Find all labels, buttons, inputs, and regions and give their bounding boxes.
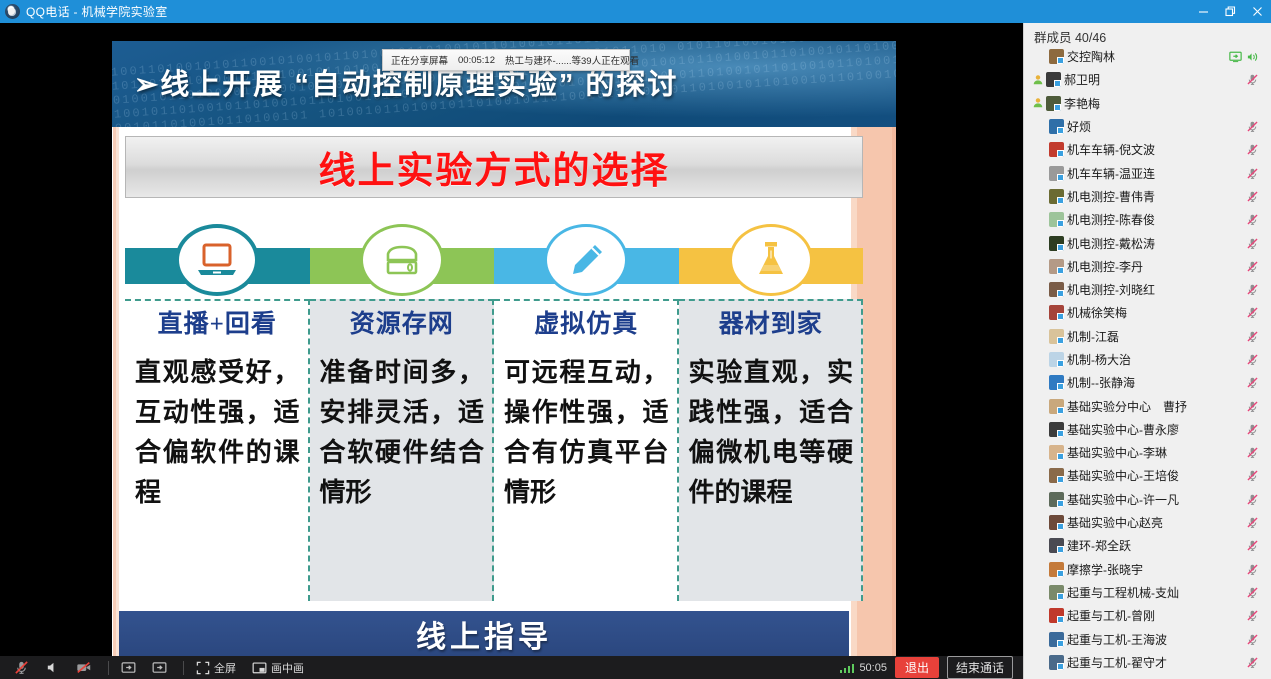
avatar <box>1049 538 1064 553</box>
avatar <box>1049 492 1064 507</box>
avatar <box>1049 352 1064 367</box>
member-status-icons <box>1246 376 1271 389</box>
slide-title-plate: 线上实验方式的选择 <box>125 136 863 198</box>
column-dashed-right <box>861 299 863 601</box>
member-list-item[interactable]: 机电测控-戴松涛 <box>1024 231 1271 254</box>
member-status-icons <box>1246 283 1271 296</box>
screen-share-status-bar[interactable]: 正在分享屏幕 00:05:12 热工与建环-......等39人正在观看 <box>382 49 630 71</box>
column-header: 资源存网 <box>310 299 495 345</box>
member-name: 起重与工机-曾刚 <box>1067 607 1246 624</box>
slide-comparison-grid: 直播+回看 直观感受好，互动性强，适合偏软件的课程 资源存网 准备时间多，安排灵… <box>125 299 863 601</box>
share-elapsed-time: 00:05:12 <box>458 55 495 66</box>
mic-muted-icon[interactable] <box>1246 237 1259 250</box>
member-status-icons <box>1246 586 1271 599</box>
mic-muted-icon[interactable] <box>1246 167 1259 180</box>
member-status-icons <box>1246 353 1271 366</box>
member-name: 机电测控-陈春俊 <box>1067 211 1246 228</box>
call-duration: 50:05 <box>859 662 887 674</box>
member-list-item[interactable]: 好烦 <box>1024 115 1271 138</box>
avatar <box>1049 259 1064 274</box>
member-status-icons <box>1246 516 1271 529</box>
fullscreen-icon <box>196 661 210 675</box>
call-toolbar: 全屏 画中画 50:05 退出 结束通话 <box>0 656 1023 679</box>
avatar <box>1049 49 1064 64</box>
column-dashed-top <box>679 299 864 301</box>
member-name: 机车车辆-倪文波 <box>1067 141 1246 158</box>
member-list-item[interactable]: 机电测控-曹伟青 <box>1024 185 1271 208</box>
pip-label: 画中画 <box>271 660 304 676</box>
mic-muted-icon[interactable] <box>1246 633 1259 646</box>
member-name: 机制-杨大治 <box>1067 351 1246 368</box>
member-list-item[interactable]: 基础实验中心-王培俊 <box>1024 464 1271 487</box>
mic-muted-icon[interactable] <box>1246 306 1259 319</box>
avatar <box>1049 562 1064 577</box>
member-name: 起重与工机-王海波 <box>1067 631 1246 648</box>
close-icon[interactable] <box>1244 0 1271 23</box>
column-dashed-top <box>125 299 310 301</box>
member-panel-header: 群成员 40/46 <box>1024 23 1271 45</box>
member-status-icons <box>1246 143 1271 156</box>
avatar <box>1049 375 1064 390</box>
column-body: 可远程互动，操作性强，适合有仿真平台情形 <box>494 345 679 513</box>
member-list-item[interactable]: 建环-郑全跃 <box>1024 534 1271 557</box>
window-title-bar: QQ电话 - 机械学院实验室 <box>0 0 1271 23</box>
member-list-item[interactable]: 基础实验分中心 曹抒 <box>1024 394 1271 417</box>
member-status-icons <box>1246 213 1271 226</box>
member-list-item[interactable]: 李艳梅 <box>1024 92 1271 115</box>
member-list-item[interactable]: 机电测控-李丹 <box>1024 255 1271 278</box>
member-status-icons <box>1246 423 1271 436</box>
flask-icon <box>729 224 813 296</box>
mic-muted-icon[interactable] <box>1246 493 1259 506</box>
qq-penguin-icon <box>5 4 20 19</box>
avatar <box>1049 166 1064 181</box>
pencil-icon <box>544 224 628 296</box>
column-body: 直观感受好，互动性强，适合偏软件的课程 <box>125 345 310 513</box>
member-list-item[interactable]: 机制--张静海 <box>1024 371 1271 394</box>
minimize-icon[interactable] <box>1190 0 1217 23</box>
member-status-icons <box>1246 260 1271 273</box>
mic-muted-icon[interactable] <box>1246 190 1259 203</box>
member-status-icons <box>1246 400 1271 413</box>
picture-in-picture-icon <box>252 661 267 675</box>
member-status-icons <box>1229 51 1271 63</box>
mic-muted-icon[interactable] <box>1246 563 1259 576</box>
share-screen-icon <box>121 661 136 675</box>
share-out-button[interactable] <box>152 661 167 675</box>
column-header: 虚拟仿真 <box>494 299 679 345</box>
member-name: 机制-江磊 <box>1067 328 1246 345</box>
column-body: 实验直观，实践性强，适合偏微机电等硬件的课程 <box>679 345 864 513</box>
toolbar-divider <box>108 661 109 675</box>
member-name: 李艳梅 <box>1064 95 1259 112</box>
member-list-item[interactable]: 郝卫明 <box>1024 68 1271 91</box>
member-status-icons <box>1246 120 1271 133</box>
member-list-item[interactable]: 起重与工程机械-支灿 <box>1024 581 1271 604</box>
slide-footer-text: 线上指导 <box>416 612 552 656</box>
camera-toggle-button[interactable] <box>76 660 92 675</box>
member-status-icons <box>1246 539 1271 552</box>
mic-muted-icon[interactable] <box>1246 423 1259 436</box>
speaker-toggle-button[interactable] <box>45 660 60 675</box>
member-list-item[interactable]: 基础实验中心赵亮 <box>1024 511 1271 534</box>
server-icon <box>360 224 444 296</box>
slide-column-1: 直播+回看 直观感受好，互动性强，适合偏软件的课程 <box>125 299 310 601</box>
avatar <box>1049 585 1064 600</box>
member-list-item[interactable]: 起重与工机-曾刚 <box>1024 604 1271 627</box>
avatar <box>1046 72 1061 87</box>
shared-screen-stage[interactable]: 0101001101001010110010100101101001011010… <box>0 23 1023 656</box>
member-name: 建环-郑全跃 <box>1067 537 1246 554</box>
member-list-item[interactable]: 机电测控-陈春俊 <box>1024 208 1271 231</box>
slide-column-2: 资源存网 准备时间多，安排灵活，适合软硬件结合情形 <box>310 299 495 601</box>
member-status-icons <box>1246 237 1271 250</box>
mic-muted-icon[interactable] <box>1246 260 1259 273</box>
mic-muted-icon[interactable] <box>1246 656 1259 669</box>
member-status-icons <box>1246 469 1271 482</box>
exit-button[interactable]: 退出 <box>895 657 939 678</box>
member-name: 基础实验中心-许一凡 <box>1067 491 1246 508</box>
member-name: 起重与工机-翟守才 <box>1067 654 1246 671</box>
share-screen-button[interactable] <box>121 661 136 675</box>
member-name: 基础实验中心-王培俊 <box>1067 467 1246 484</box>
mic-muted-icon[interactable] <box>1246 516 1259 529</box>
member-list-item[interactable]: 机制-杨大治 <box>1024 348 1271 371</box>
member-list-item[interactable]: 机车车辆-温亚连 <box>1024 161 1271 184</box>
column-header: 器材到家 <box>679 299 864 345</box>
member-status-icons <box>1246 609 1271 622</box>
member-name: 基础实验分中心 曹抒 <box>1067 398 1246 415</box>
member-status-icons <box>1246 167 1271 180</box>
mic-muted-icon[interactable] <box>1246 330 1259 343</box>
mic-muted-icon[interactable] <box>1246 353 1259 366</box>
member-list-item[interactable]: 基础实验中心-许一凡 <box>1024 488 1271 511</box>
avatar <box>1049 655 1064 670</box>
member-name: 机械徐笑梅 <box>1067 304 1246 321</box>
mic-muted-icon[interactable] <box>1246 73 1259 86</box>
member-name: 机电测控-曹伟青 <box>1067 188 1246 205</box>
mic-muted-icon[interactable] <box>1246 376 1259 389</box>
laptop-icon <box>175 224 259 296</box>
member-status-icons <box>1246 306 1271 319</box>
member-name: 机电测控-戴松涛 <box>1067 235 1246 252</box>
share-status-label: 正在分享屏幕 <box>391 53 448 67</box>
member-name: 交控陶林 <box>1067 48 1229 65</box>
member-name: 机车车辆-温亚连 <box>1067 165 1246 182</box>
member-status-icons <box>1246 330 1271 343</box>
share-out-icon <box>152 661 167 675</box>
mic-off-icon <box>14 660 29 675</box>
member-name: 机制--张静海 <box>1067 374 1246 391</box>
avatar <box>1049 445 1064 460</box>
member-list-item[interactable]: 基础实验中心-李琳 <box>1024 441 1271 464</box>
speaker-green-icon[interactable] <box>1246 51 1259 63</box>
member-name: 摩擦学-张晓宇 <box>1067 561 1246 578</box>
slide-footer-band: 线上指导 <box>119 611 849 656</box>
avatar <box>1049 422 1064 437</box>
admin-crown-icon <box>1032 74 1044 86</box>
member-name: 郝卫明 <box>1064 71 1246 88</box>
avatar <box>1049 399 1064 414</box>
mic-muted-icon[interactable] <box>1246 283 1259 296</box>
member-list-item[interactable]: 起重与工机-王海波 <box>1024 627 1271 650</box>
mic-muted-icon[interactable] <box>1246 446 1259 459</box>
window-controls <box>1190 0 1271 23</box>
fullscreen-button[interactable]: 全屏 <box>196 660 236 676</box>
member-list[interactable]: 交控陶林郝卫明李艳梅好烦机车车辆-倪文波机车车辆-温亚连机电测控-曹伟青机电测控… <box>1024 45 1271 674</box>
admin-crown-icon <box>1032 97 1044 109</box>
avatar <box>1049 236 1064 251</box>
column-body: 准备时间多，安排灵活，适合软硬件结合情形 <box>310 345 495 513</box>
mic-muted-icon[interactable] <box>1246 143 1259 156</box>
mic-muted-icon[interactable] <box>1246 400 1259 413</box>
avatar <box>1049 608 1064 623</box>
column-header: 直播+回看 <box>125 299 310 345</box>
pip-button[interactable]: 画中画 <box>252 660 304 676</box>
member-list-item[interactable]: 机制-江磊 <box>1024 325 1271 348</box>
avatar <box>1049 515 1064 530</box>
slide-icon-band-row <box>125 224 863 296</box>
toolbar-divider-2 <box>183 661 184 675</box>
member-name: 基础实验中心赵亮 <box>1067 514 1246 531</box>
member-list-item[interactable]: 机电测控-刘晓红 <box>1024 278 1271 301</box>
column-dashed-top <box>310 299 495 301</box>
restore-icon[interactable] <box>1217 0 1244 23</box>
avatar <box>1049 142 1064 157</box>
member-name: 基础实验中心-曹永廖 <box>1067 421 1246 438</box>
member-status-icons <box>1246 190 1271 203</box>
member-list-item[interactable]: 机械徐笑梅 <box>1024 301 1271 324</box>
mic-muted-icon[interactable] <box>1246 213 1259 226</box>
mic-muted-icon[interactable] <box>1246 586 1259 599</box>
avatar <box>1049 468 1064 483</box>
avatar <box>1049 632 1064 647</box>
share-viewers-label: 热工与建环-......等39人正在观看 <box>505 53 639 67</box>
avatar <box>1046 96 1061 111</box>
hangup-button[interactable]: 结束通话 <box>947 656 1013 679</box>
member-status-icons <box>1246 493 1271 506</box>
signal-bars-icon <box>840 662 855 673</box>
member-name: 基础实验中心-李琳 <box>1067 444 1246 461</box>
avatar <box>1049 212 1064 227</box>
camera-off-icon <box>76 660 92 675</box>
qq-call-window: QQ电话 - 机械学院实验室 0101001101001010110010100… <box>0 0 1271 679</box>
avatar <box>1049 189 1064 204</box>
avatar <box>1049 305 1064 320</box>
mic-muted-icon[interactable] <box>1246 120 1259 133</box>
avatar <box>1049 282 1064 297</box>
member-list-item[interactable]: 基础实验中心-曹永廖 <box>1024 418 1271 441</box>
member-panel: 群成员 40/46 交控陶林郝卫明李艳梅好烦机车车辆-倪文波机车车辆-温亚连机电… <box>1023 23 1271 679</box>
fullscreen-label: 全屏 <box>214 660 236 676</box>
member-status-icons <box>1246 563 1271 576</box>
slide-column-4: 器材到家 实验直观，实践性强，适合偏微机电等硬件的课程 <box>679 299 864 601</box>
member-list-item[interactable]: 机车车辆-倪文波 <box>1024 138 1271 161</box>
window-title: QQ电话 - 机械学院实验室 <box>26 3 168 20</box>
member-name: 好烦 <box>1067 118 1246 135</box>
admin-crown-wrapper <box>1030 97 1046 109</box>
member-status-icons <box>1246 446 1271 459</box>
slide-left-strip <box>112 127 119 656</box>
avatar <box>1049 119 1064 134</box>
mic-muted-icon[interactable] <box>1246 469 1259 482</box>
speaker-icon <box>45 660 60 675</box>
column-dashed-top <box>494 299 679 301</box>
share-screen-green-icon[interactable] <box>1229 51 1242 63</box>
admin-crown-wrapper <box>1030 74 1046 86</box>
member-name: 起重与工程机械-支灿 <box>1067 584 1246 601</box>
slide-title: 线上实验方式的选择 <box>319 140 670 194</box>
slide-column-3: 虚拟仿真 可远程互动，操作性强，适合有仿真平台情形 <box>494 299 679 601</box>
member-status-icons <box>1246 73 1271 86</box>
avatar <box>1049 329 1064 344</box>
mic-muted-icon[interactable] <box>1246 609 1259 622</box>
presentation-slide: 0101001101001010110010100101101001011010… <box>112 41 896 656</box>
mic-toggle-button[interactable] <box>14 660 29 675</box>
member-list-item[interactable]: 起重与工机-翟守才 <box>1024 651 1271 674</box>
mic-muted-icon[interactable] <box>1246 539 1259 552</box>
member-list-item[interactable]: 摩擦学-张晓宇 <box>1024 558 1271 581</box>
member-name: 机电测控-李丹 <box>1067 258 1246 275</box>
member-status-icons <box>1246 656 1271 669</box>
member-status-icons <box>1246 633 1271 646</box>
member-list-item[interactable]: 交控陶林 <box>1024 45 1271 68</box>
member-name: 机电测控-刘晓红 <box>1067 281 1246 298</box>
